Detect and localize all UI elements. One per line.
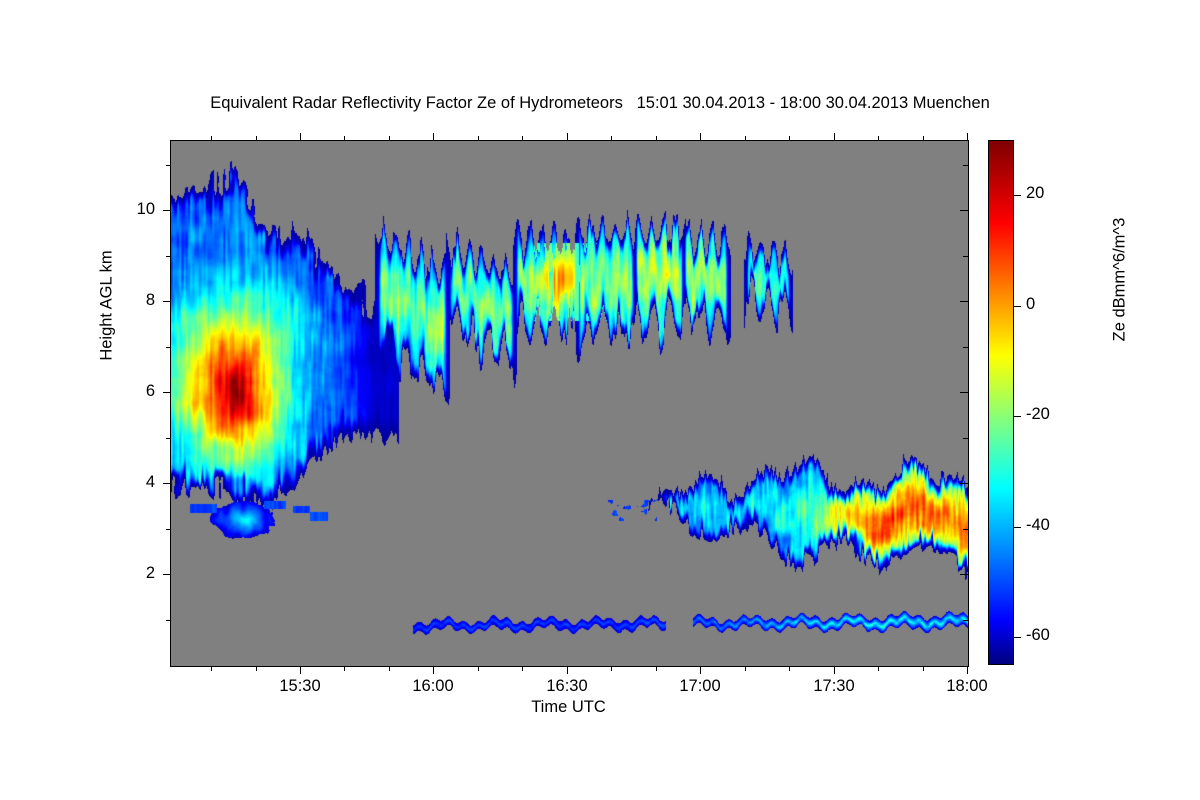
x-tick-minor	[789, 136, 790, 141]
y-tick-minor	[166, 256, 171, 257]
colorbar-gradient	[988, 140, 1014, 665]
y-tick-minor	[963, 529, 968, 530]
x-tick-minor	[256, 136, 257, 141]
x-tick-mark	[967, 666, 968, 674]
x-tick-mark	[433, 133, 434, 141]
colorbar-tick-label: 0	[1026, 295, 1035, 314]
y-tick-mark-right	[960, 483, 968, 484]
x-tick-label: 15:30	[255, 677, 345, 696]
colorbar	[988, 140, 1014, 665]
y-tick-minor	[963, 438, 968, 439]
colorbar-tick-mark	[1014, 306, 1021, 307]
x-tick-minor	[878, 136, 879, 141]
x-tick-mark	[700, 666, 701, 674]
y-tick-minor	[963, 256, 968, 257]
y-tick-label: 2	[109, 564, 155, 583]
x-tick-minor	[656, 666, 657, 671]
y-tick-minor	[166, 165, 171, 166]
plot-area[interactable]	[170, 140, 969, 667]
x-tick-mark	[834, 666, 835, 674]
colorbar-tick-label: -60	[1026, 626, 1050, 645]
x-tick-label: 17:30	[789, 677, 879, 696]
x-tick-minor	[878, 666, 879, 671]
x-tick-minor	[745, 666, 746, 671]
x-tick-mark	[700, 133, 701, 141]
x-tick-label: 16:00	[388, 677, 478, 696]
x-tick-minor	[478, 136, 479, 141]
x-tick-minor	[389, 666, 390, 671]
colorbar-tick-label: -20	[1026, 405, 1050, 424]
x-tick-minor	[344, 666, 345, 671]
x-tick-minor	[478, 666, 479, 671]
y-tick-mark-right	[960, 392, 968, 393]
x-tick-minor	[745, 136, 746, 141]
x-tick-minor	[611, 136, 612, 141]
colorbar-tick-mark	[1014, 416, 1021, 417]
y-tick-minor	[963, 347, 968, 348]
x-tick-minor	[656, 136, 657, 141]
x-tick-mark	[567, 666, 568, 674]
x-tick-minor	[211, 136, 212, 141]
x-tick-label: 17:00	[655, 677, 745, 696]
x-tick-mark	[967, 133, 968, 141]
y-tick-mark	[163, 483, 171, 484]
colorbar-tick-label: -40	[1026, 516, 1050, 535]
x-tick-minor	[389, 136, 390, 141]
y-tick-minor	[166, 347, 171, 348]
x-tick-mark	[433, 666, 434, 674]
colorbar-tick-mark	[1014, 527, 1021, 528]
x-tick-minor	[344, 136, 345, 141]
x-tick-minor	[611, 666, 612, 671]
colorbar-tick-label: 20	[1026, 184, 1044, 203]
x-tick-minor	[211, 666, 212, 671]
x-tick-mark	[300, 133, 301, 141]
x-tick-minor	[923, 136, 924, 141]
x-tick-mark	[300, 666, 301, 674]
radar-heatmap	[171, 141, 968, 666]
x-axis-title: Time UTC	[170, 698, 967, 717]
y-tick-mark-right	[960, 210, 968, 211]
y-tick-mark	[163, 301, 171, 302]
page-title: Equivalent Radar Reflectivity Factor Ze …	[0, 94, 1200, 113]
x-tick-mark	[834, 133, 835, 141]
colorbar-tick-mark	[1014, 195, 1021, 196]
y-tick-minor	[963, 165, 968, 166]
y-tick-mark	[163, 392, 171, 393]
colorbar-tick-mark	[1014, 637, 1021, 638]
x-tick-minor	[522, 666, 523, 671]
x-tick-mark	[567, 133, 568, 141]
y-tick-minor	[166, 529, 171, 530]
y-tick-mark	[163, 574, 171, 575]
y-tick-mark	[163, 210, 171, 211]
x-tick-label: 16:30	[522, 677, 612, 696]
x-tick-minor	[923, 666, 924, 671]
y-tick-label: 4	[109, 473, 155, 492]
x-tick-minor	[522, 136, 523, 141]
y-tick-mark-right	[960, 301, 968, 302]
radar-reflectivity-figure: Equivalent Radar Reflectivity Factor Ze …	[0, 0, 1200, 800]
y-tick-minor	[166, 620, 171, 621]
y-tick-minor	[166, 438, 171, 439]
x-tick-minor	[789, 666, 790, 671]
colorbar-title: Ze dBmm^6/m^3	[1111, 140, 1130, 420]
y-tick-minor	[963, 620, 968, 621]
y-axis-title: Height AGL km	[98, 196, 117, 416]
y-tick-mark-right	[960, 574, 968, 575]
x-tick-minor	[256, 666, 257, 671]
x-tick-label: 18:00	[922, 677, 1012, 696]
